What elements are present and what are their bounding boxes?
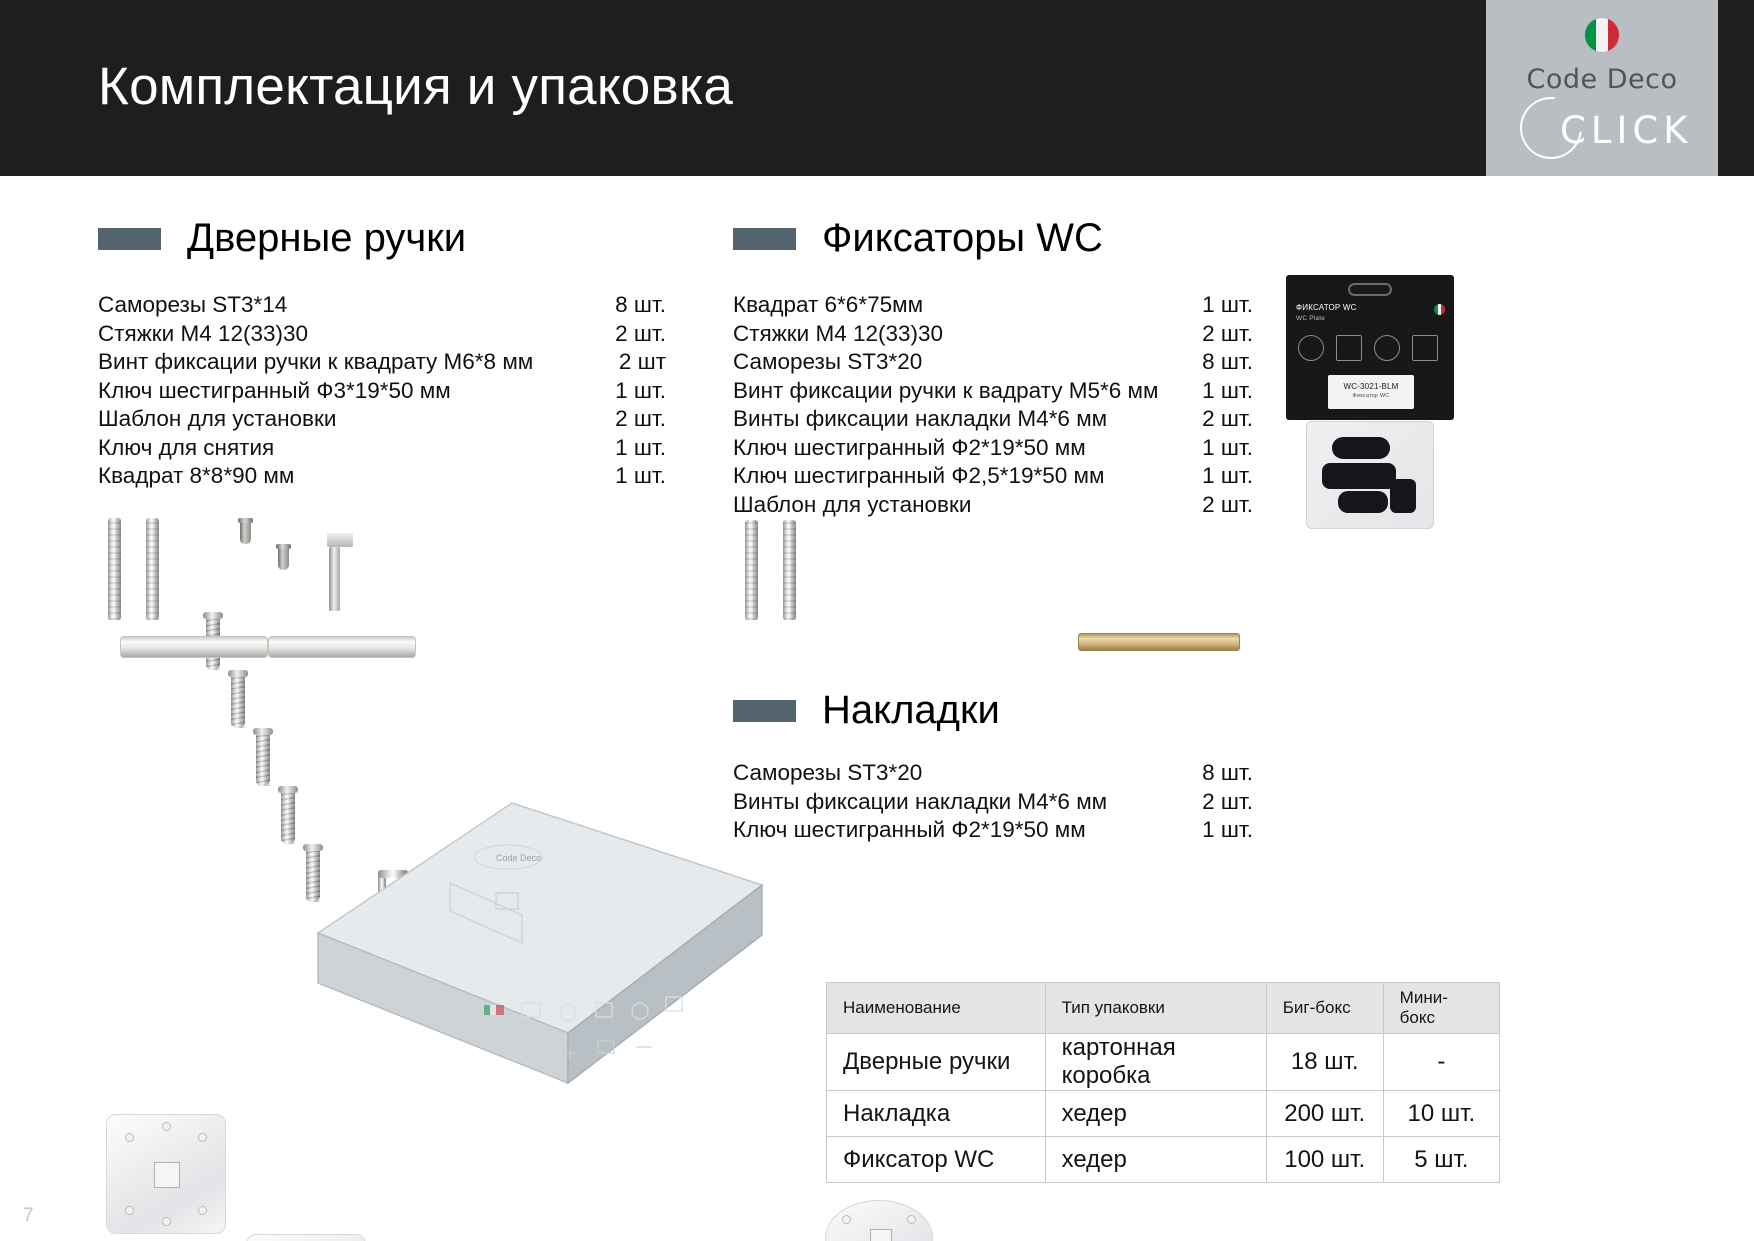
item-qty: 1 шт. — [615, 462, 666, 491]
section-plates-title: Накладки — [822, 688, 1000, 733]
item-name: Винты фиксации накладки М4*6 мм — [733, 405, 1202, 434]
list-item: Саморезы ST3*14 8 шт. — [98, 291, 666, 320]
wc-blister-pack-illustration: ФИКСАТОР WC WC Plate WC-3021-BLM Фиксато… — [1286, 275, 1454, 537]
list-item: Ключ шестигранный Ф3*19*50 мм 1 шт. — [98, 377, 666, 406]
brand-name: Code Deco — [1527, 64, 1678, 95]
hang-hole-icon — [1348, 283, 1392, 296]
small-screw-icon — [240, 518, 251, 544]
item-qty: 2 шт. — [615, 320, 666, 349]
cell-bigbox: 18 шт. — [1266, 1034, 1383, 1091]
section-marker-icon — [733, 700, 796, 722]
page-title: Комплектация и упаковка — [98, 56, 733, 117]
item-name: Саморезы ST3*14 — [98, 291, 615, 320]
wc-hardware-blob — [1390, 479, 1416, 513]
item-qty: 1 шт. — [615, 377, 666, 406]
item-qty: 1 шт. — [615, 434, 666, 463]
wc-round-plate-icon — [825, 1200, 933, 1241]
brass-square-rod-icon — [1078, 633, 1240, 651]
list-item: Стяжки М4 12(33)30 2 шт. — [98, 320, 666, 349]
list-item: Квадрат 6*6*75мм 1 шт. — [733, 291, 1253, 320]
list-item: Саморезы ST3*20 8 шт. — [733, 348, 1253, 377]
anchor-bolt-icon — [108, 518, 121, 620]
page-number: 7 — [23, 1205, 34, 1227]
page-header: Комплектация и упаковка Code Deco CLICK — [0, 0, 1754, 176]
table-row: Фиксатор WC хедер 100 шт. 5 шт. — [827, 1137, 1500, 1183]
cell-bigbox: 100 шт. — [1266, 1137, 1383, 1183]
section-wc-title: Фиксаторы WC — [822, 216, 1103, 261]
section-handles-heading: Дверные ручки — [98, 216, 698, 261]
plates-kit-list: Саморезы ST3*20 8 шт. Винты фиксации нак… — [733, 759, 1293, 845]
list-item: Стяжки М4 12(33)30 2 шт. — [733, 320, 1253, 349]
list-item: Ключ для снятия 1 шт. — [98, 434, 666, 463]
item-qty: 2 шт. — [1202, 320, 1253, 349]
item-qty: 1 шт. — [1202, 377, 1253, 406]
list-item: Саморезы ST3*20 8 шт. — [733, 759, 1253, 788]
cell-name: Фиксатор WC — [827, 1137, 1046, 1183]
cell-type: картонная коробка — [1045, 1034, 1266, 1091]
list-item: Винты фиксации накладки М4*6 мм 2 шт. — [733, 405, 1253, 434]
item-name: Ключ шестигранный Ф2,5*19*50 мм — [733, 462, 1202, 491]
section-wc: Фиксаторы WC Квадрат 6*6*75мм 1 шт. Стяж… — [733, 216, 1293, 519]
screw-icon — [256, 728, 270, 786]
italy-flag-icon — [1585, 18, 1619, 52]
list-item: Ключ шестигранный Ф2,5*19*50 мм 1 шт. — [733, 462, 1253, 491]
item-name: Шаблон для установки — [733, 491, 1202, 520]
item-name: Винты фиксации накладки М4*6 мм — [733, 788, 1202, 817]
item-name: Стяжки М4 12(33)30 — [733, 320, 1202, 349]
item-name: Квадрат 8*8*90 мм — [98, 462, 615, 491]
list-item: Ключ шестигранный Ф2*19*50 мм 1 шт. — [733, 816, 1253, 845]
wc-kit-list: Квадрат 6*6*75мм 1 шт. Стяжки М4 12(33)3… — [733, 291, 1293, 519]
section-plates: Накладки Саморезы ST3*20 8 шт. Винты фик… — [733, 688, 1293, 845]
item-qty: 2 шт. — [1202, 405, 1253, 434]
table-header-row: Наименование Тип упаковки Биг-бокс Мини-… — [827, 983, 1500, 1034]
item-qty: 1 шт. — [1202, 462, 1253, 491]
mounting-plate-icon — [106, 1114, 226, 1234]
column-header-bigbox: Биг-бокс — [1266, 983, 1383, 1034]
blister-feature-icons — [1296, 333, 1444, 367]
anchor-bolt-icon — [745, 520, 758, 620]
item-name: Ключ шестигранный Ф2*19*50 мм — [733, 434, 1202, 463]
list-item: Квадрат 8*8*90 мм 1 шт. — [98, 462, 666, 491]
list-item: Винт фиксации ручки к вадрату М5*6 мм 1 … — [733, 377, 1253, 406]
item-name: Ключ для снятия — [98, 434, 615, 463]
wc-hardware-blob — [1322, 463, 1396, 489]
cell-minibox: - — [1383, 1034, 1499, 1091]
item-name: Квадрат 6*6*75мм — [733, 291, 1202, 320]
blister-title: ФИКСАТОР WC WC Plate — [1296, 303, 1357, 324]
list-item: Шаблон для установки 2 шт. — [733, 491, 1253, 520]
list-item: Винт фиксации ручки к квадрату М6*8 мм 2… — [98, 348, 666, 377]
item-qty: 8 шт. — [615, 291, 666, 320]
cell-minibox: 10 шт. — [1383, 1091, 1499, 1137]
item-qty: 2 шт. — [615, 405, 666, 434]
item-qty: 2 шт — [619, 348, 666, 377]
blister-product-code: WC-3021-BLM Фиксатор WC — [1328, 375, 1414, 409]
item-qty: 1 шт. — [1202, 816, 1253, 845]
item-name: Винт фиксации ручки к квадрату М6*8 мм — [98, 348, 619, 377]
small-screw-icon — [278, 544, 289, 570]
item-qty: 1 шт. — [1202, 291, 1253, 320]
item-name: Винт фиксации ручки к вадрату М5*6 мм — [733, 377, 1202, 406]
item-name: Саморезы ST3*20 — [733, 759, 1202, 788]
handles-kit-list: Саморезы ST3*14 8 шт. Стяжки М4 12(33)30… — [98, 291, 698, 491]
item-qty: 2 шт. — [1202, 491, 1253, 520]
list-item: Шаблон для установки 2 шт. — [98, 405, 666, 434]
table-row: Накладка хедер 200 шт. 10 шт. — [827, 1091, 1500, 1137]
wc-hardware-blob — [1338, 491, 1388, 513]
section-wc-heading: Фиксаторы WC — [733, 216, 1293, 261]
installation-template-icon — [268, 636, 416, 658]
screw-icon — [281, 786, 295, 844]
svg-text:Code Deco: Code Deco — [496, 853, 541, 863]
brand-click-lockup: CLICK — [1512, 99, 1692, 161]
item-qty: 8 шт. — [1202, 348, 1253, 377]
item-name: Саморезы ST3*20 — [733, 348, 1202, 377]
brand-logo: Code Deco CLICK — [1486, 0, 1718, 176]
section-marker-icon — [733, 228, 796, 250]
item-name: Ключ шестигранный Ф3*19*50 мм — [98, 377, 615, 406]
anchor-bolt-icon — [146, 518, 159, 620]
packaging-table: Наименование Тип упаковки Биг-бокс Мини-… — [826, 982, 1500, 1183]
column-header-name: Наименование — [827, 983, 1046, 1034]
mounting-plate-icon — [246, 1234, 366, 1241]
item-name: Шаблон для установки — [98, 405, 615, 434]
item-qty: 1 шт. — [1202, 434, 1253, 463]
cell-type: хедер — [1045, 1137, 1266, 1183]
installation-template-icon — [120, 636, 268, 658]
blister-bag — [1298, 415, 1444, 535]
list-item: Винты фиксации накладки М4*6 мм 2 шт. — [733, 788, 1253, 817]
italy-flag-icon — [1434, 304, 1445, 315]
product-box-illustration: Code Deco — [300, 765, 770, 1095]
blister-card: ФИКСАТОР WC WC Plate WC-3021-BLM Фиксато… — [1286, 275, 1454, 420]
section-plates-heading: Накладки — [733, 688, 1293, 733]
anchor-bolt-icon — [783, 520, 796, 620]
section-handles-title: Дверные ручки — [187, 216, 466, 261]
cell-name: Дверные ручки — [827, 1034, 1046, 1091]
column-header-type: Тип упаковки — [1045, 983, 1266, 1034]
item-name: Ключ шестигранный Ф2*19*50 мм — [733, 816, 1202, 845]
cell-name: Накладка — [827, 1091, 1046, 1137]
section-marker-icon — [98, 228, 161, 250]
removal-key-icon — [327, 533, 353, 611]
table-row: Дверные ручки картонная коробка 18 шт. - — [827, 1034, 1500, 1091]
item-qty: 2 шт. — [1202, 788, 1253, 817]
section-handles: Дверные ручки Саморезы ST3*14 8 шт. Стяж… — [98, 216, 698, 491]
screw-icon — [231, 670, 245, 728]
wc-hardware-blob — [1332, 437, 1390, 459]
item-name: Стяжки М4 12(33)30 — [98, 320, 615, 349]
cell-type: хедер — [1045, 1091, 1266, 1137]
cell-minibox: 5 шт. — [1383, 1137, 1499, 1183]
item-qty: 8 шт. — [1202, 759, 1253, 788]
column-header-minibox: Мини-бокс — [1383, 983, 1499, 1034]
cell-bigbox: 200 шт. — [1266, 1091, 1383, 1137]
cardboard-box-icon: Code Deco — [300, 765, 770, 1095]
slide-page: Комплектация и упаковка Code Deco CLICK … — [0, 0, 1754, 1241]
brand-sub: CLICK — [1560, 109, 1692, 152]
list-item: Ключ шестигранный Ф2*19*50 мм 1 шт. — [733, 434, 1253, 463]
